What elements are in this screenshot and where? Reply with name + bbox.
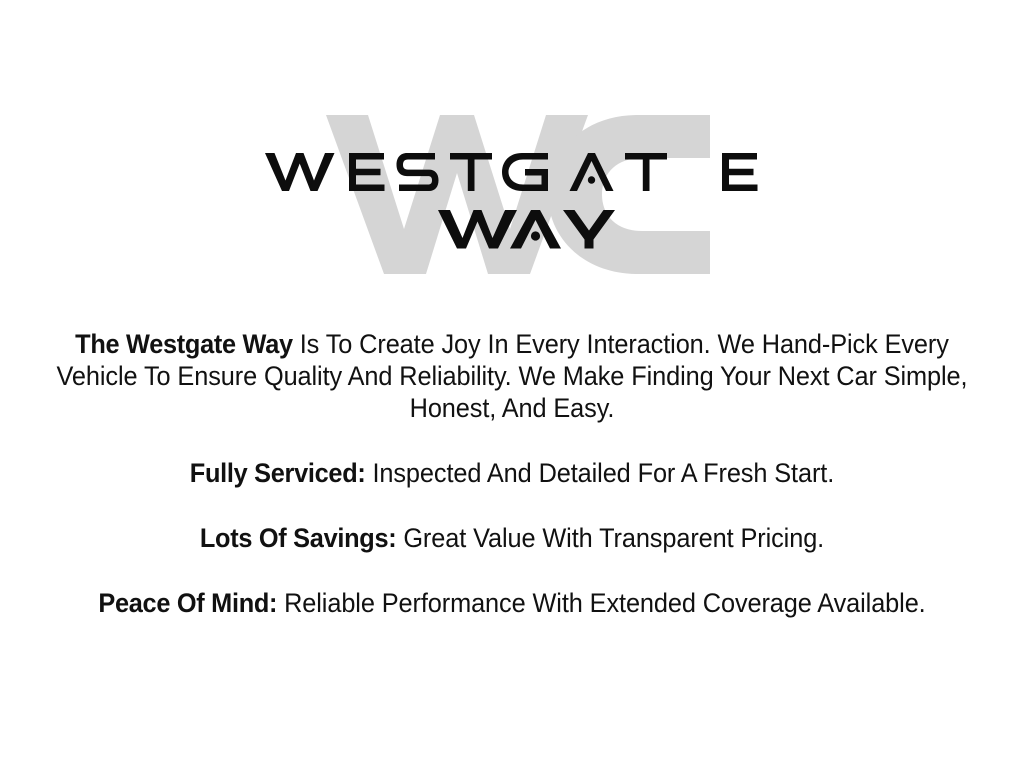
benefit-text-fully-serviced: Inspected And Detailed For A Fresh Start… [366,458,835,488]
benefit-item-fully-serviced: Fully Serviced: Inspected And Detailed F… [23,457,1001,489]
page-root: WESTGATE [0,0,1024,768]
benefit-text-lots-of-savings: Great Value With Transparent Pricing. [396,523,824,553]
benefit-lead-lots-of-savings: Lots Of Savings: [200,523,397,553]
copy-block: The Westgate Way Is To Create Joy In Eve… [0,328,1024,619]
logo-wordmark: WESTGATE [252,150,772,255]
benefit-lead-peace-of-mind: Peace Of Mind: [98,588,277,618]
logo-block: WESTGATE [0,95,1024,295]
benefit-item-peace-of-mind: Peace Of Mind: Reliable Performance With… [23,587,1001,619]
benefit-lead-fully-serviced: Fully Serviced: [190,458,366,488]
intro-lead: The Westgate Way [75,329,293,359]
benefit-text-peace-of-mind: Reliable Performance With Extended Cover… [277,588,925,618]
benefit-item-lots-of-savings: Lots Of Savings: Great Value With Transp… [23,522,1001,554]
intro-paragraph: The Westgate Way Is To Create Joy In Eve… [23,328,1001,424]
